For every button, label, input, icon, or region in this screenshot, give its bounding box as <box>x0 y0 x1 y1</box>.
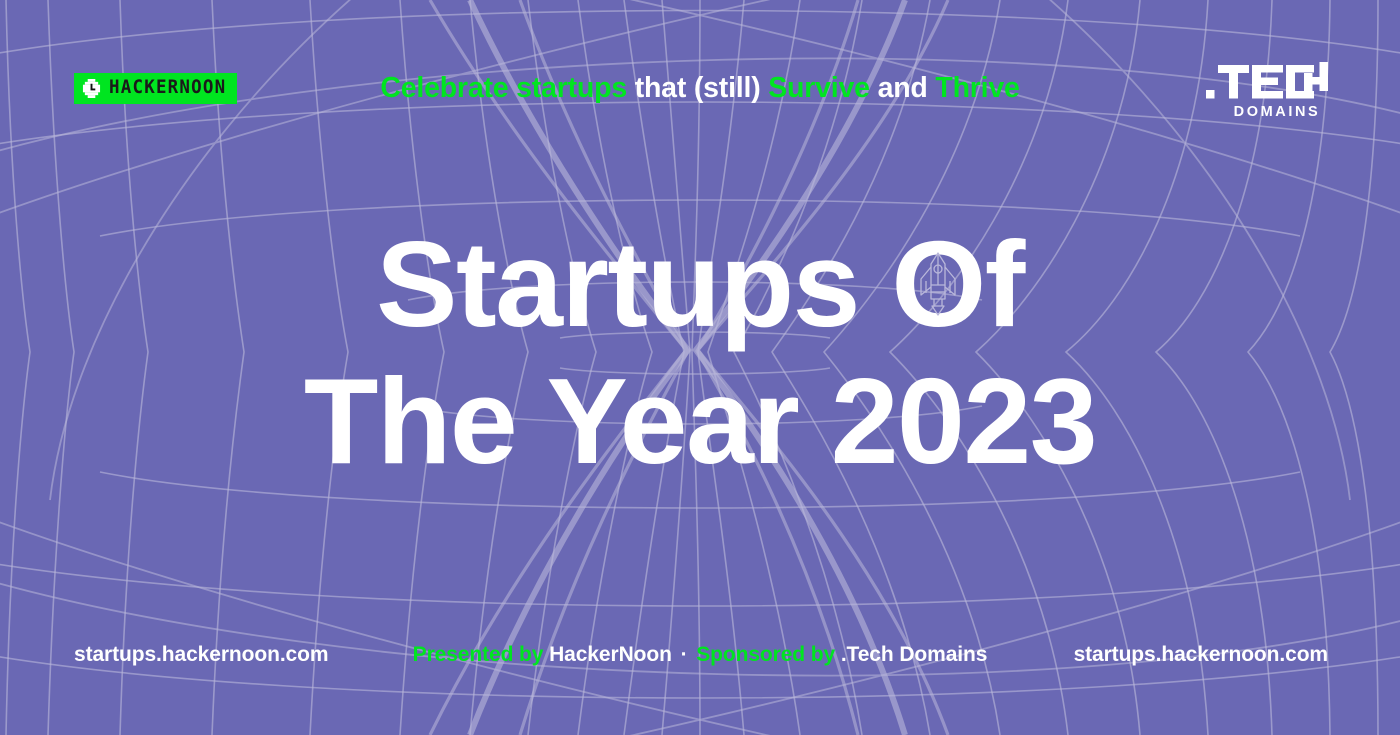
tagline-part-4: and <box>878 72 928 104</box>
presented-by-label: Presented by <box>413 643 544 666</box>
hackernoon-wordmark: HACKERNOON <box>109 79 226 97</box>
footer-url-left[interactable]: startups.hackernoon.com <box>74 643 328 667</box>
credits-separator: · <box>678 643 691 666</box>
sponsored-by-value: .Tech Domains <box>841 643 988 666</box>
event-tagline: Celebrate startups that (still) Survive … <box>380 71 1019 105</box>
tech-domains-logo[interactable]: DOMAINS <box>1206 62 1328 120</box>
tagline-part-2: that (still) <box>635 72 761 104</box>
dot-tech-wordmark-icon <box>1206 62 1328 102</box>
footer-credits: Presented by HackerNoon · Sponsored by .… <box>413 643 988 667</box>
presented-by-value: HackerNoon <box>549 643 672 666</box>
title-o-with-rocket: O <box>891 216 984 353</box>
hackernoon-pixel-mark <box>82 79 101 98</box>
footer-url-right[interactable]: startups.hackernoon.com <box>1074 643 1328 667</box>
sponsored-by-label: Sponsored by <box>696 643 835 666</box>
poster-canvas: HACKERNOON Celebrate startups that (stil… <box>0 0 1400 735</box>
poster-footer: startups.hackernoon.com Presented by Hac… <box>0 625 1400 735</box>
poster-header: HACKERNOON Celebrate startups that (stil… <box>0 0 1400 175</box>
tech-domains-subtitle: DOMAINS <box>1206 105 1328 120</box>
tagline-part-1: Celebrate startups <box>380 72 627 104</box>
hackernoon-logo[interactable]: HACKERNOON <box>74 73 237 104</box>
title-letter-o: O <box>891 216 984 352</box>
title-line-2: The Year 2023 <box>0 353 1400 490</box>
poster-title: Startups O f The Year 2023 <box>0 216 1400 489</box>
title-line-1-text-a: Startups <box>376 216 891 352</box>
tagline-part-5: Thrive <box>935 72 1019 104</box>
tagline-part-3: Survive <box>768 72 870 104</box>
title-line-1-text-b: f <box>985 216 1024 352</box>
title-line-1: Startups O f <box>0 216 1400 353</box>
